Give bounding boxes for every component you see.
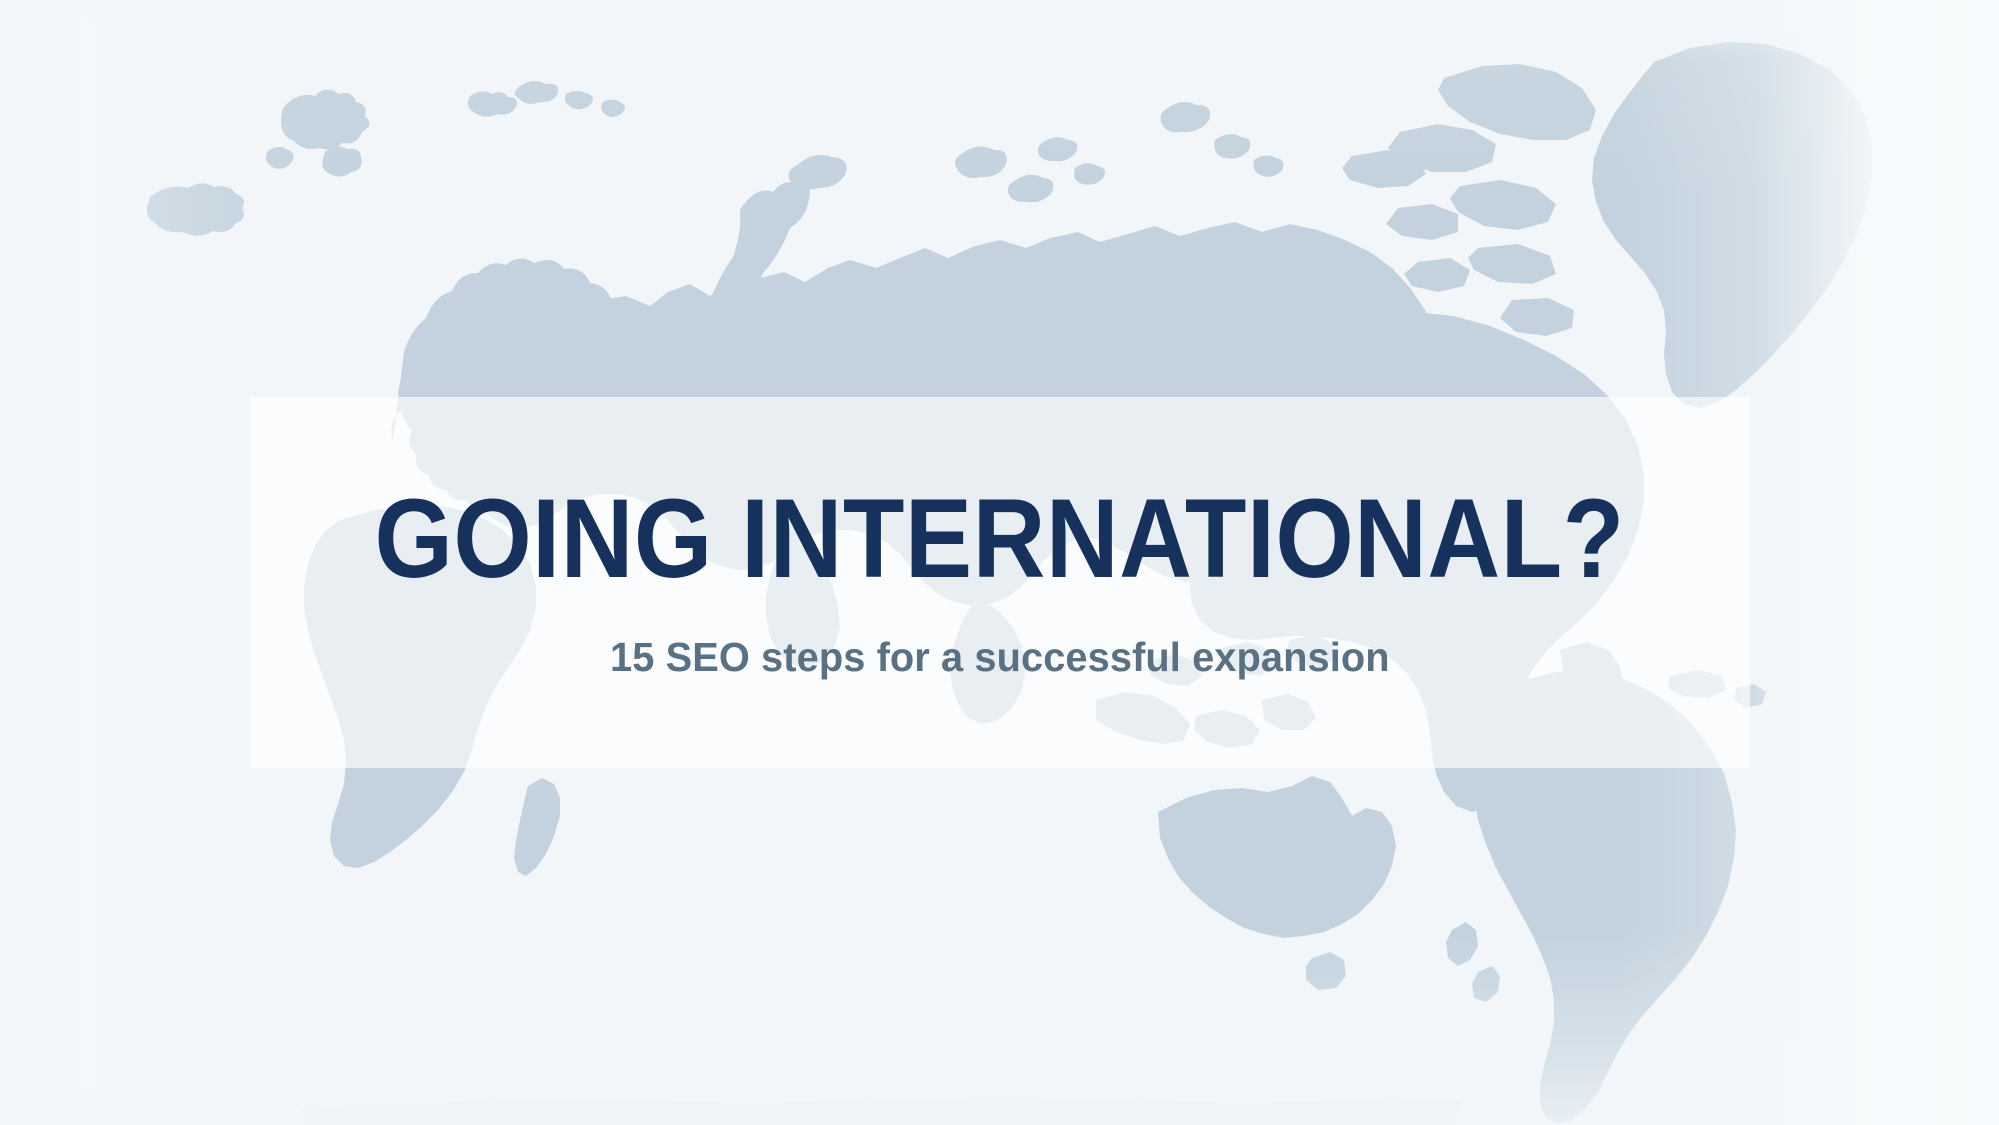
- headline-block: GOING INTERNATIONAL? 15 SEO steps for a …: [0, 397, 1999, 768]
- slide-title: GOING INTERNATIONAL?: [374, 483, 1624, 595]
- slide-subtitle: 15 SEO steps for a successful expansion: [610, 633, 1390, 682]
- presentation-slide: GOING INTERNATIONAL? 15 SEO steps for a …: [0, 0, 1999, 1125]
